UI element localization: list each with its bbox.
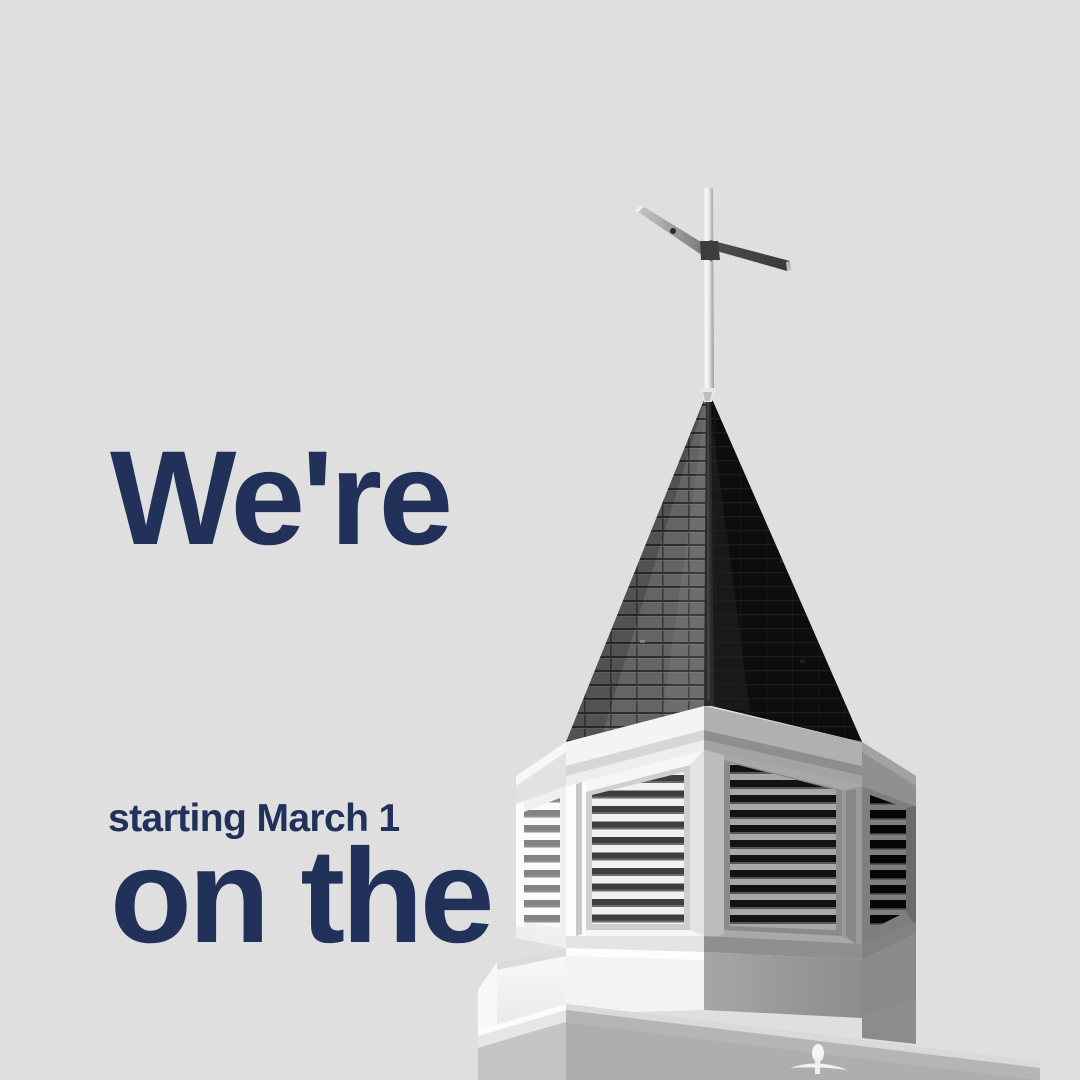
headline-block: We're on the move, again!: [110, 168, 540, 1080]
cross-finial-icon: [635, 188, 791, 392]
headline-line-2: on the: [110, 831, 540, 964]
poster-canvas: We're on the move, again! starting March…: [0, 0, 1080, 1080]
spire-roof: [540, 385, 900, 765]
subtitle-start-date: starting March 1: [108, 798, 400, 841]
headline-line-1: We're: [110, 433, 540, 566]
page-title: We're on the move, again!: [110, 168, 540, 1080]
